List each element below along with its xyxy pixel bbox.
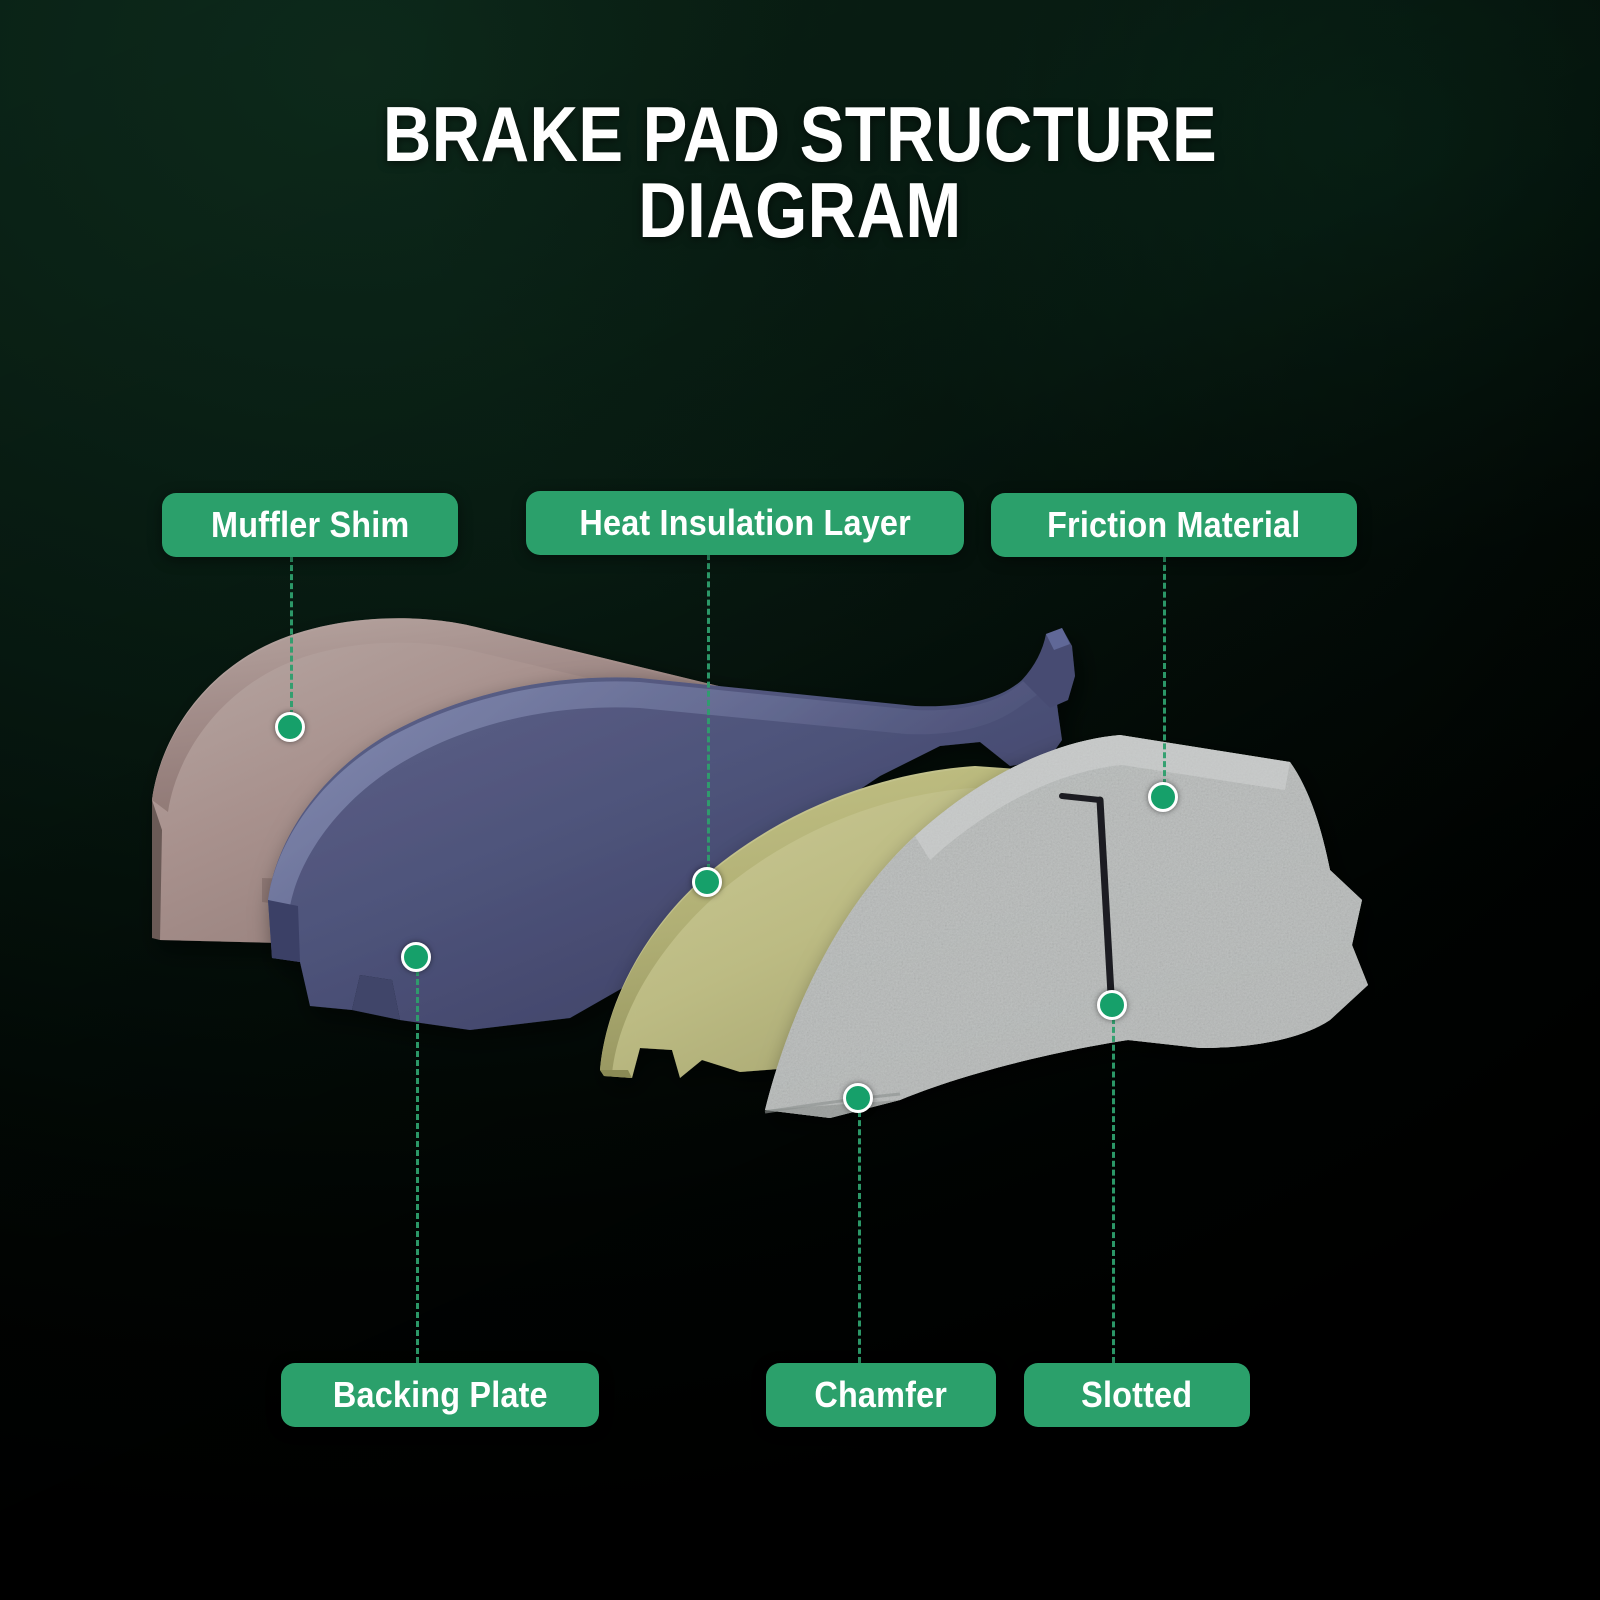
- callout-label-muffler-shim: Muffler Shim: [211, 504, 409, 546]
- leader-line-friction-material: [1163, 556, 1166, 785]
- anchor-dot-muffler-shim: [275, 712, 305, 742]
- page-title: BRAKE PAD STRUCTURE DIAGRAM: [112, 96, 1488, 249]
- callout-muffler-shim[interactable]: Muffler Shim: [162, 493, 458, 557]
- callout-label-slotted: Slotted: [1081, 1374, 1192, 1416]
- anchor-dot-friction-material: [1148, 782, 1178, 812]
- anchor-dot-backing-plate: [401, 942, 431, 972]
- anchor-dot-slotted: [1097, 990, 1127, 1020]
- callout-label-friction-material: Friction Material: [1047, 504, 1300, 546]
- leader-line-slotted: [1112, 1018, 1115, 1363]
- callout-heat-insulation-layer[interactable]: Heat Insulation Layer: [526, 491, 964, 555]
- callout-chamfer[interactable]: Chamfer: [766, 1363, 996, 1427]
- leader-line-chamfer: [858, 1111, 861, 1363]
- callout-backing-plate[interactable]: Backing Plate: [281, 1363, 599, 1427]
- anchor-dot-heat-insulation: [692, 867, 722, 897]
- anchor-dot-chamfer: [843, 1083, 873, 1113]
- leader-line-heat-insulation: [707, 554, 710, 870]
- callout-label-backing-plate: Backing Plate: [333, 1374, 548, 1416]
- callout-label-chamfer: Chamfer: [815, 1374, 948, 1416]
- leader-line-muffler-shim: [290, 556, 293, 716]
- leader-line-backing-plate: [416, 970, 419, 1363]
- callout-friction-material[interactable]: Friction Material: [991, 493, 1357, 557]
- callout-slotted[interactable]: Slotted: [1024, 1363, 1250, 1427]
- diagram-canvas: BRAKE PAD STRUCTURE DIAGRAM: [0, 0, 1600, 1600]
- callout-label-heat-insulation-layer: Heat Insulation Layer: [579, 502, 910, 544]
